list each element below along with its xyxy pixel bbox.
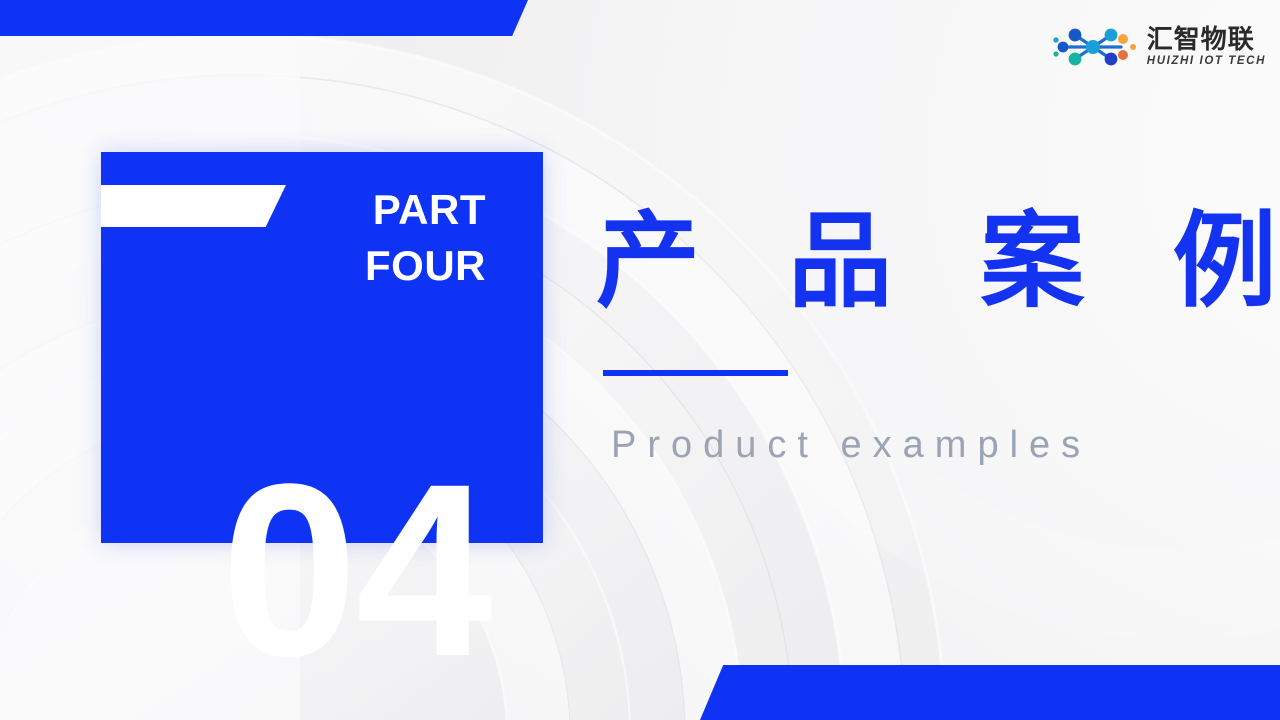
brand-logo: 汇智物联 HUIZHI IOT TECH xyxy=(1053,25,1266,69)
part-label-line2: FOUR xyxy=(256,238,486,294)
logo-name-en: HUIZHI IOT TECH xyxy=(1147,56,1266,68)
logo-wordmark: 汇智物联 HUIZHI IOT TECH xyxy=(1147,27,1266,68)
top-left-blue-bar xyxy=(0,0,528,36)
section-number-panel: PART FOUR 04 xyxy=(101,152,543,543)
part-label-line1: PART xyxy=(256,182,486,238)
page-subtitle: Product examples xyxy=(611,424,1091,467)
page-title: 产 品 案 例 xyxy=(596,207,1280,316)
part-label: PART FOUR xyxy=(256,182,486,294)
presentation-slide: PART FOUR 04 产 品 案 例 Product examples xyxy=(0,0,1280,720)
molecule-network-logo-icon xyxy=(1053,25,1139,69)
title-underline-rule xyxy=(603,370,788,376)
section-number: 04 xyxy=(221,470,491,672)
logo-name-cn: 汇智物联 xyxy=(1147,27,1266,54)
bottom-right-blue-bar xyxy=(700,665,1280,720)
